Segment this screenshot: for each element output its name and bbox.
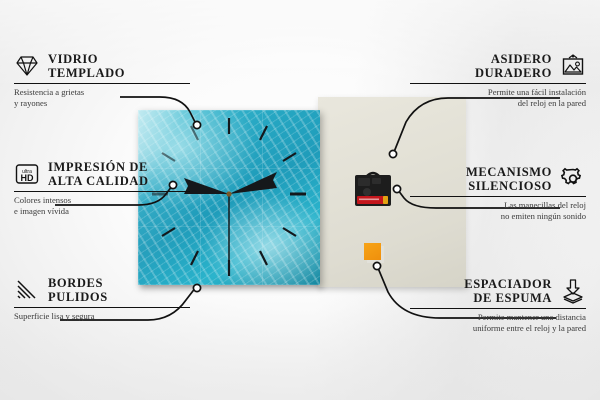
- feature-foam-spacer: ESPACIADOR DE ESPUMA Permite mantener un…: [410, 277, 586, 334]
- feature-title-line2: TEMPLADO: [48, 66, 125, 80]
- feature-title-line1: ESPACIADOR: [464, 277, 552, 291]
- feature-title-line2: DURADERO: [475, 66, 552, 80]
- feature-description: Permite mantener una distancia uniforme …: [410, 312, 586, 334]
- feature-rule: [14, 83, 190, 84]
- feature-description: Las manecillas del reloj no emiten ningú…: [410, 200, 586, 222]
- feature-rule: [410, 83, 586, 84]
- feature-rule: [410, 196, 586, 197]
- feature-tempered-glass: VIDRIO TEMPLADO Resistencia a grietas y …: [14, 52, 190, 109]
- feature-durable-hanger: ASIDERO DURADERO Permite una fácil insta…: [410, 52, 586, 109]
- wire-endpoint-dots: [169, 121, 400, 291]
- polished-edges-icon: [14, 277, 40, 303]
- foam-spacer-icon: [560, 278, 586, 304]
- ultra-hd-icon: ultra HD: [14, 161, 40, 187]
- feature-polished-edges: BORDES PULIDOS Superficie lisa y segura: [14, 276, 190, 322]
- gear-icon: [560, 166, 586, 192]
- feature-title-line1: ASIDERO: [475, 52, 552, 66]
- feature-description: Colores intensos e imagen vívida: [14, 195, 190, 217]
- picture-frame-icon: [560, 53, 586, 79]
- ultra-hd-large: HD: [21, 173, 34, 183]
- feature-title-line2: SILENCIOSO: [466, 179, 552, 193]
- feature-description: Superficie lisa y segura: [14, 311, 190, 322]
- feature-title-line2: DE ESPUMA: [464, 291, 552, 305]
- feature-silent-mechanism: MECANISMO SILENCIOSO Las manecillas del …: [410, 165, 586, 222]
- feature-rule: [14, 191, 190, 192]
- feature-title-line2: PULIDOS: [48, 290, 108, 304]
- diamond-icon: [14, 53, 40, 79]
- feature-rule: [410, 308, 586, 309]
- feature-description: Permite una fácil instalación del reloj …: [410, 87, 586, 109]
- infographic-canvas: VIDRIO TEMPLADO Resistencia a grietas y …: [0, 0, 600, 400]
- feature-title-line1: VIDRIO: [48, 52, 125, 66]
- feature-rule: [14, 307, 190, 308]
- feature-title-line1: IMPRESIÓN DE: [48, 160, 149, 174]
- feature-title-line1: MECANISMO: [466, 165, 552, 179]
- feature-print-quality: ultra HD IMPRESIÓN DE ALTA CALIDAD Color…: [14, 160, 190, 217]
- feature-title-line1: BORDES: [48, 276, 108, 290]
- feature-description: Resistencia a grietas y rayones: [14, 87, 190, 109]
- feature-title-line2: ALTA CALIDAD: [48, 174, 149, 188]
